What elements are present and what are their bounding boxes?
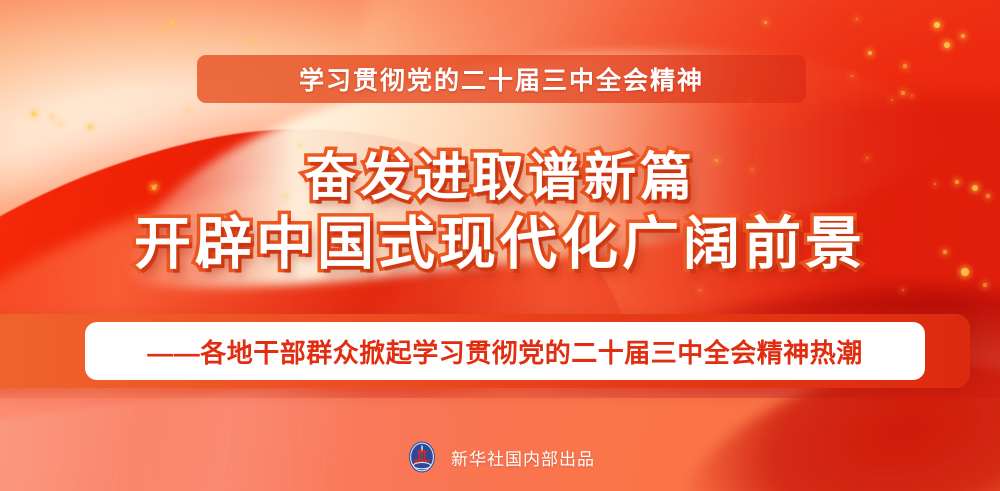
sparkle-particle (934, 22, 940, 28)
subtitle-text: ——各地干部群众掀起学习贯彻党的二十届三中全会精神热潮 (147, 333, 863, 370)
subtitle-box: ——各地干部群众掀起学习贯彻党的二十届三中全会精神热潮 (85, 322, 925, 380)
main-title-line-2: 开辟中国式现代化广阔前景 (0, 216, 1000, 273)
footer-text: 新华社国内部出品 (451, 445, 595, 470)
main-title-line-1: 奋发进取谱新篇 (0, 152, 1000, 204)
main-title: 奋发进取谱新篇 开辟中国式现代化广阔前景 (0, 152, 1000, 273)
top-banner: 学习贯彻党的二十届三中全会精神 (197, 55, 806, 103)
sparkle-particle (983, 283, 986, 286)
sparkle-particle (901, 91, 904, 94)
sparkle-particle (903, 64, 906, 67)
xinhua-agency-logo-icon (405, 440, 439, 474)
sparkle-particle (961, 34, 965, 38)
sparkle-particle (764, 21, 767, 24)
sparkle-particle (170, 21, 174, 25)
top-banner-text: 学习贯彻党的二十届三中全会精神 (299, 61, 704, 97)
sparkle-particle (88, 125, 91, 128)
footer: 新华社国内部出品 (0, 440, 1000, 474)
poster-canvas: 学习贯彻党的二十届三中全会精神 奋发进取谱新篇 开辟中国式现代化广阔前景 ——各… (0, 0, 1000, 491)
sparkle-particle (891, 99, 893, 101)
